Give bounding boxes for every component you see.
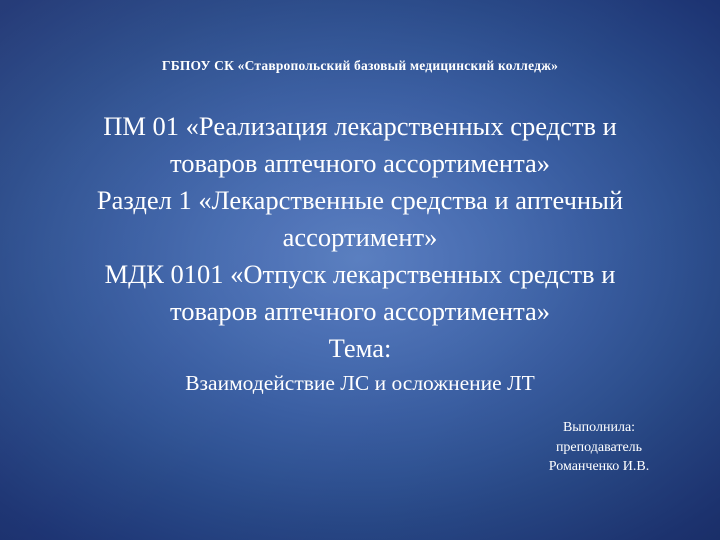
title-line: МДК 0101 «Отпуск лекарственных средств и (26, 256, 694, 293)
title-line: товаров аптечного ассортимента» (26, 145, 694, 182)
presentation-title-slide: ГБПОУ СК «Ставропольский базовый медицин… (0, 0, 720, 540)
title-line: Раздел 1 «Лекарственные средства и аптеч… (26, 182, 694, 219)
title-line: товаров аптечного ассортимента» (26, 293, 694, 330)
title-block: ПМ 01 «Реализация лекарственных средств … (26, 108, 694, 398)
author-block: Выполнила: преподаватель Романченко И.В. (504, 418, 694, 477)
author-name: Романченко И.В. (504, 457, 694, 477)
author-role-prefix: Выполнила: (504, 418, 694, 438)
institution-name: ГБПОУ СК «Ставропольский базовый медицин… (0, 58, 720, 74)
title-line: ПМ 01 «Реализация лекарственных средств … (26, 108, 694, 145)
author-role: преподаватель (504, 438, 694, 458)
theme-value: Взаимодействие ЛС и осложнение ЛТ (26, 368, 694, 398)
theme-label: Тема: (26, 330, 694, 367)
slide-content-layer: ГБПОУ СК «Ставропольский базовый медицин… (0, 0, 720, 540)
title-line: ассортимент» (26, 219, 694, 256)
